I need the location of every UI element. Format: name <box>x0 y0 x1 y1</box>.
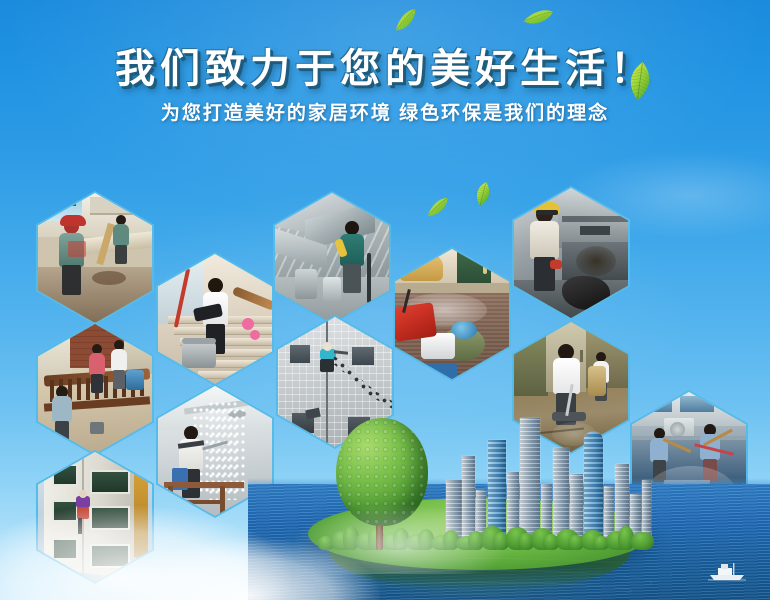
water-ripple <box>302 558 672 590</box>
hex-handrail-polishing-image <box>38 324 152 454</box>
cardboard-box <box>588 366 606 396</box>
red-glove <box>550 260 562 269</box>
door-handle <box>580 350 583 362</box>
window-2 <box>352 347 374 365</box>
ac-fan <box>670 422 685 437</box>
wood-table <box>399 251 443 281</box>
baseboard <box>395 283 509 293</box>
shirt-print <box>68 241 86 257</box>
hex-kitchen-hood-cleaning[interactable] <box>512 186 630 320</box>
hex-exterior-wall-cleaning[interactable] <box>36 450 154 584</box>
hex-stair-mopping-scene <box>158 254 272 384</box>
worker-head <box>79 490 87 498</box>
polisher-machine <box>126 370 144 390</box>
green-sign <box>48 201 76 206</box>
paint-can <box>90 422 104 434</box>
window-left-2 <box>52 538 78 560</box>
baluster <box>86 378 90 400</box>
person-legs <box>55 421 69 444</box>
person-legs <box>62 265 81 296</box>
hex-demolition-renovation-scene <box>38 193 152 323</box>
hex-duct-cleaning-scene <box>275 193 389 323</box>
hood-lip <box>562 216 628 222</box>
person-torso <box>530 221 559 259</box>
hex-kitchen-hood-cleaning-image <box>514 188 628 318</box>
red-cap <box>60 215 86 226</box>
shelf <box>90 197 146 215</box>
worker-head <box>323 342 332 351</box>
hex-kitchen-hood-cleaning-scene <box>514 188 628 318</box>
worker-shorts <box>320 359 334 372</box>
window-left-1 <box>52 500 78 522</box>
rubble <box>92 271 126 285</box>
goggles <box>536 210 558 215</box>
hex-carpet-cleaning-scene <box>395 249 509 379</box>
scaffold-leg-1 <box>168 486 173 516</box>
person-torso <box>113 224 130 246</box>
city-skyline <box>408 404 658 544</box>
person-torso <box>89 353 106 375</box>
person-legs <box>343 264 361 293</box>
hex-carpet-cleaning-image <box>395 249 509 379</box>
equipment <box>295 269 317 299</box>
bucket-rim <box>182 338 216 344</box>
banner-stage: 我们致力于您的美好生活！ 为您打造美好的家居环境 绿色环保是我们的理念 <box>0 0 770 600</box>
scaffold-beam <box>164 482 244 488</box>
baluster <box>77 378 81 400</box>
hex-exterior-wall-cleaning-image <box>38 452 152 582</box>
red-bucket <box>395 302 437 342</box>
left-panel <box>514 322 548 396</box>
right-wall <box>124 324 152 374</box>
person-torso <box>52 396 72 422</box>
baluster <box>104 376 108 398</box>
hose <box>367 253 371 303</box>
vent <box>580 226 610 235</box>
hex-duct-cleaning-image <box>275 193 389 323</box>
window-right-0 <box>90 470 130 494</box>
grease-stain <box>576 246 616 276</box>
tree-crown <box>336 418 428 526</box>
person-torso <box>553 358 580 394</box>
mop-bucket <box>182 342 216 368</box>
island-shrub-row <box>318 524 644 550</box>
person-legs <box>115 245 127 265</box>
hex-demolition-renovation[interactable] <box>36 191 154 325</box>
hex-stair-mopping-image <box>158 254 272 384</box>
window-1 <box>290 345 310 363</box>
hex-handrail-polishing-scene <box>38 324 152 454</box>
pink-cloth <box>242 318 254 330</box>
hex-duct-cleaning[interactable] <box>273 191 391 325</box>
window-right-2 <box>90 544 130 568</box>
gold-trim <box>134 465 148 558</box>
hex-demolition-renovation-image <box>38 193 152 323</box>
person-legs <box>91 374 103 394</box>
bucket <box>323 277 341 301</box>
hex-carpet-cleaning[interactable] <box>393 247 511 381</box>
window-left-0 <box>52 464 78 486</box>
shrub <box>631 532 654 550</box>
pink-cloth-2 <box>250 330 260 340</box>
small-boat-icon <box>706 562 748 582</box>
scaffold-brace <box>172 500 224 504</box>
window-band-2 <box>680 396 714 412</box>
window-right-1 <box>90 506 130 530</box>
eco-city-island <box>290 401 670 600</box>
hex-handrail-polishing[interactable] <box>36 322 154 456</box>
person-legs <box>113 370 125 390</box>
blue-tray <box>417 363 457 379</box>
worker-leg <box>78 518 82 534</box>
stair-step <box>198 371 272 379</box>
person-torso <box>111 349 128 371</box>
hex-exterior-wall-cleaning-scene <box>38 452 152 582</box>
cabinet-handle <box>483 265 487 274</box>
hex-stair-mopping[interactable] <box>156 252 274 386</box>
